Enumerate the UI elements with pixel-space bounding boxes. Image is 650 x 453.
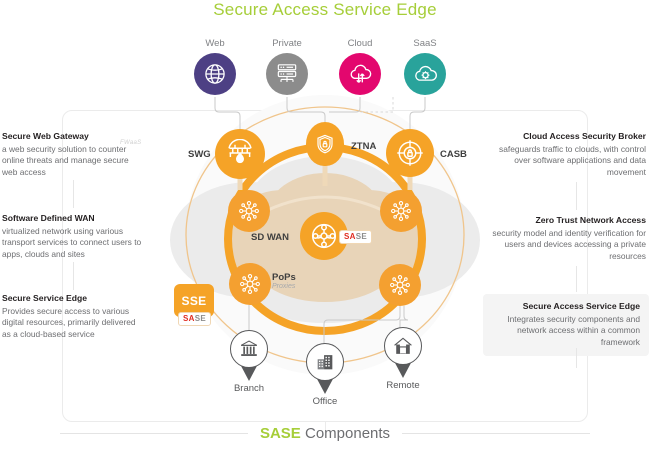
- node-casb-label: CASB: [440, 149, 467, 160]
- endpoint-remote-label: Remote: [381, 380, 425, 391]
- home-icon: [384, 327, 422, 365]
- node-pops-sublabel: Proxies: [272, 283, 295, 290]
- shield-lock-icon: [313, 132, 337, 156]
- info-block-sase: Secure Access Service Edge Integrates se…: [483, 294, 649, 356]
- footer-rule-left: [60, 433, 248, 434]
- mesh-node-icon: [388, 198, 414, 224]
- info-block-sase-body: Integrates security components and netwo…: [492, 314, 640, 349]
- diagram-canvas: Secure Access Service Edge: [0, 0, 650, 453]
- source-saas[interactable]: SaaS: [400, 38, 450, 95]
- footer-rule-right: [402, 433, 590, 434]
- source-web-label: Web: [190, 38, 240, 49]
- node-casb[interactable]: [386, 129, 434, 177]
- node-mesh-bottom-left[interactable]: [229, 263, 271, 305]
- server-icon: [266, 53, 308, 95]
- mesh-hub-icon: [308, 220, 340, 252]
- source-cloud[interactable]: Cloud: [335, 38, 385, 95]
- endpoint-office-label: Office: [303, 396, 347, 407]
- node-ztna-label: ZTNA: [351, 141, 376, 152]
- info-block-ztna-heading: Zero Trust Network Access: [486, 215, 646, 227]
- target-lock-icon: [395, 138, 425, 168]
- info-block-ztna-body: security model and identity verification…: [486, 228, 646, 263]
- info-block-sse-body: Provides secure access to various digita…: [2, 306, 144, 341]
- node-mesh-bottom-right[interactable]: [379, 264, 421, 306]
- node-mesh-top-right[interactable]: [380, 190, 422, 232]
- info-block-casb: Cloud Access Security Broker safeguards …: [486, 131, 646, 178]
- mesh-node-icon: [237, 271, 263, 297]
- office-building-icon: [306, 343, 344, 381]
- globe-icon: [194, 53, 236, 95]
- info-block-swg-body: a web security solution to counter onlin…: [2, 144, 144, 179]
- source-web[interactable]: Web: [190, 38, 240, 95]
- info-block-casb-body: safeguards traffic to clouds, with contr…: [486, 144, 646, 179]
- endpoint-office[interactable]: Office: [303, 343, 347, 407]
- node-pops-label: PoPs: [272, 272, 296, 283]
- sase-badge-center-b: SE: [356, 232, 367, 241]
- mesh-node-icon: [236, 198, 262, 224]
- info-block-swg: Secure Web Gateway a web security soluti…: [2, 131, 144, 178]
- node-ztna[interactable]: [306, 122, 344, 166]
- info-block-sse-heading: Secure Service Edge: [2, 293, 144, 305]
- firewall-flame-icon: [225, 139, 255, 169]
- info-block-casb-heading: Cloud Access Security Broker: [486, 131, 646, 143]
- info-block-swg-heading: Secure Web Gateway: [2, 131, 144, 143]
- footer-title-rest: Components: [301, 425, 390, 442]
- node-sdwan-label: SD WAN: [251, 232, 289, 243]
- right-divider-1: [576, 182, 577, 210]
- node-mesh-top-left[interactable]: [228, 190, 270, 232]
- footer-title-highlight: SASE: [260, 425, 301, 442]
- sase-badge-center: SASE: [339, 230, 372, 244]
- footer-title: SASE Components: [260, 425, 390, 442]
- info-block-sse: Secure Service Edge Provides secure acce…: [2, 293, 144, 340]
- endpoint-remote[interactable]: Remote: [381, 327, 425, 391]
- sase-badge-sse: SASE: [178, 312, 211, 326]
- page-title: Secure Access Service Edge: [0, 0, 650, 20]
- source-private-label: Private: [262, 38, 312, 49]
- source-cloud-label: Cloud: [335, 38, 385, 49]
- node-swg[interactable]: [215, 129, 265, 179]
- footer: SASE Components: [60, 425, 590, 442]
- node-swg-label: SWG: [188, 149, 211, 160]
- cloud-transfer-icon: [339, 53, 381, 95]
- right-divider-3: [576, 348, 577, 368]
- right-divider-2: [576, 266, 577, 292]
- source-private[interactable]: Private: [262, 38, 312, 95]
- sse-badge-label: SSE: [182, 294, 207, 308]
- bank-building-icon: [230, 330, 268, 368]
- info-block-sdwan-body: virtualized network using various transp…: [2, 226, 144, 261]
- left-divider-2: [73, 262, 74, 290]
- source-saas-label: SaaS: [400, 38, 450, 49]
- info-block-sdwan-heading: Software Defined WAN: [2, 213, 144, 225]
- mesh-node-icon: [387, 272, 413, 298]
- endpoint-branch-label: Branch: [227, 383, 271, 394]
- cloud-gear-icon: [404, 53, 446, 95]
- endpoint-branch[interactable]: Branch: [227, 330, 271, 394]
- sase-badge-sse-b: SE: [195, 314, 206, 323]
- info-block-sase-heading: Secure Access Service Edge: [492, 301, 640, 313]
- sase-badge-sse-a: SA: [183, 314, 195, 323]
- sase-badge-center-a: SA: [344, 232, 356, 241]
- info-block-ztna: Zero Trust Network Access security model…: [486, 215, 646, 262]
- info-block-sdwan: Software Defined WAN virtualized network…: [2, 213, 144, 260]
- left-divider-1: [73, 180, 74, 208]
